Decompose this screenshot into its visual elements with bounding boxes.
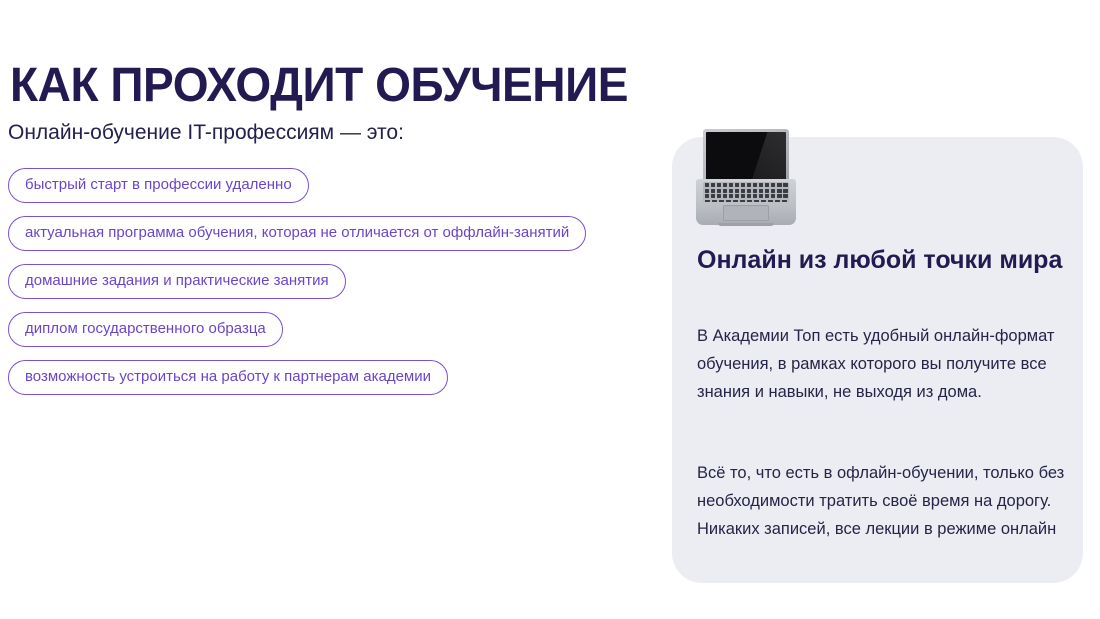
laptop-trackpad: [723, 205, 769, 221]
card-paragraph-2: Всё то, что есть в офлайн-обучении, толь…: [697, 459, 1072, 543]
keyboard-row: [705, 183, 788, 187]
keyboard-row: [705, 189, 788, 193]
laptop-screen: [706, 132, 786, 183]
laptop-keyboard: [703, 182, 789, 202]
keyboard-row: [705, 194, 788, 198]
benefit-pill: возможность устроиться на работу к партн…: [8, 360, 448, 395]
benefit-pill-list: быстрый старт в профессии удаленно актуа…: [8, 168, 586, 395]
benefit-pill: актуальная программа обучения, которая н…: [8, 216, 586, 251]
laptop-lid: [703, 129, 789, 185]
laptop-foot: [718, 223, 774, 226]
card-title: Онлайн из любой точки мира: [697, 245, 1062, 275]
keyboard-row: [705, 200, 788, 202]
page-title: КАК ПРОХОДИТ ОБУЧЕНИЕ: [10, 59, 628, 113]
card-paragraph-1: В Академии Топ есть удобный онлайн-форма…: [697, 322, 1072, 406]
laptop-icon: [696, 129, 796, 225]
laptop-base: [696, 179, 796, 225]
lead-paragraph: Онлайн-обучение IT-профессиям — это:: [8, 120, 404, 146]
benefit-pill: домашние задания и практические занятия: [8, 264, 346, 299]
benefit-pill: диплом государственного образца: [8, 312, 283, 347]
benefit-pill: быстрый старт в профессии удаленно: [8, 168, 309, 203]
